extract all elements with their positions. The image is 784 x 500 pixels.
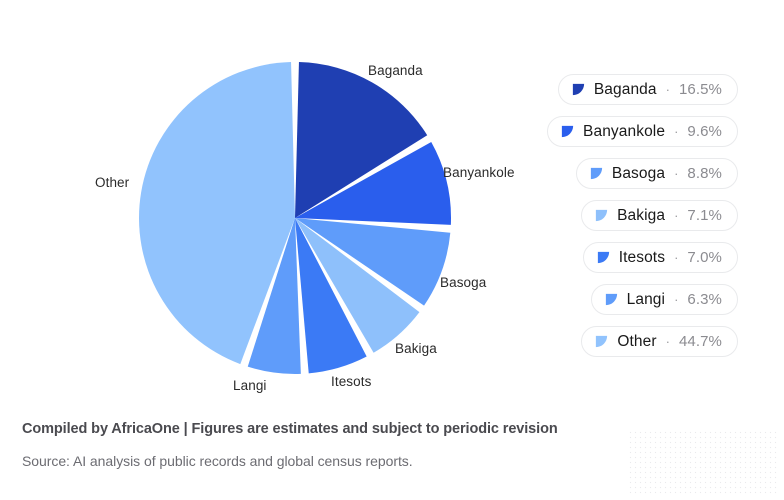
pie-chart-svg: [0, 0, 520, 410]
legend-separator: ·: [674, 292, 678, 307]
legend-item-value: 7.0%: [687, 249, 722, 266]
legend-item[interactable]: Baganda·16.5%: [558, 74, 738, 105]
legend-item-value: 9.6%: [687, 123, 722, 140]
pie-wedge-icon: [571, 82, 586, 97]
chart-area: BagandaBanyankoleBasogaBakigaItesotsLang…: [0, 0, 520, 410]
legend-item[interactable]: Banyankole·9.6%: [547, 116, 738, 147]
legend-separator: ·: [674, 208, 678, 223]
legend-item-label: Other: [617, 333, 656, 351]
chart-footer: Compiled by AfricaOne | Figures are esti…: [22, 418, 762, 471]
pie-slice-label: Langi: [233, 378, 267, 393]
pie-wedge-icon: [604, 292, 619, 307]
pie-wedge-icon: [594, 334, 609, 349]
legend-item-label: Langi: [627, 291, 665, 309]
pie-slice-label: Itesots: [331, 374, 371, 389]
pie-wedge-icon: [596, 250, 611, 265]
legend-item-value: 7.1%: [687, 207, 722, 224]
pie-wedge-icon: [589, 166, 604, 181]
legend-item[interactable]: Bakiga·7.1%: [581, 200, 738, 231]
legend-item-label: Bakiga: [617, 207, 665, 225]
legend-item-label: Itesots: [619, 249, 665, 267]
footer-source: Source: AI analysis of public records an…: [22, 451, 762, 471]
legend-item-value: 16.5%: [679, 81, 722, 98]
legend-item[interactable]: Basoga·8.8%: [576, 158, 738, 189]
pie-slice-label: Other: [95, 175, 129, 190]
legend-item-value: 8.8%: [687, 165, 722, 182]
legend-separator: ·: [674, 166, 678, 181]
legend-item-label: Basoga: [612, 165, 665, 183]
pie-chart-page: BagandaBanyankoleBasogaBakigaItesotsLang…: [0, 0, 784, 500]
chart-legend: Baganda·16.5%Banyankole·9.6%Basoga·8.8%B…: [478, 74, 738, 357]
pie-slice-label: Bakiga: [395, 341, 437, 356]
legend-item[interactable]: Itesots·7.0%: [583, 242, 738, 273]
pie-slice-label: Baganda: [368, 63, 423, 78]
legend-item-value: 44.7%: [679, 333, 722, 350]
pie-wedge-icon: [560, 124, 575, 139]
legend-item-label: Baganda: [594, 81, 657, 99]
legend-item[interactable]: Other·44.7%: [581, 326, 738, 357]
legend-separator: ·: [674, 124, 678, 139]
footer-note: Compiled by AfricaOne | Figures are esti…: [22, 418, 762, 440]
legend-separator: ·: [666, 334, 670, 349]
legend-separator: ·: [674, 250, 678, 265]
pie-wedge-icon: [594, 208, 609, 223]
legend-item[interactable]: Langi·6.3%: [591, 284, 738, 315]
legend-item-value: 6.3%: [687, 291, 722, 308]
legend-item-label: Banyankole: [583, 123, 665, 141]
legend-separator: ·: [666, 82, 670, 97]
